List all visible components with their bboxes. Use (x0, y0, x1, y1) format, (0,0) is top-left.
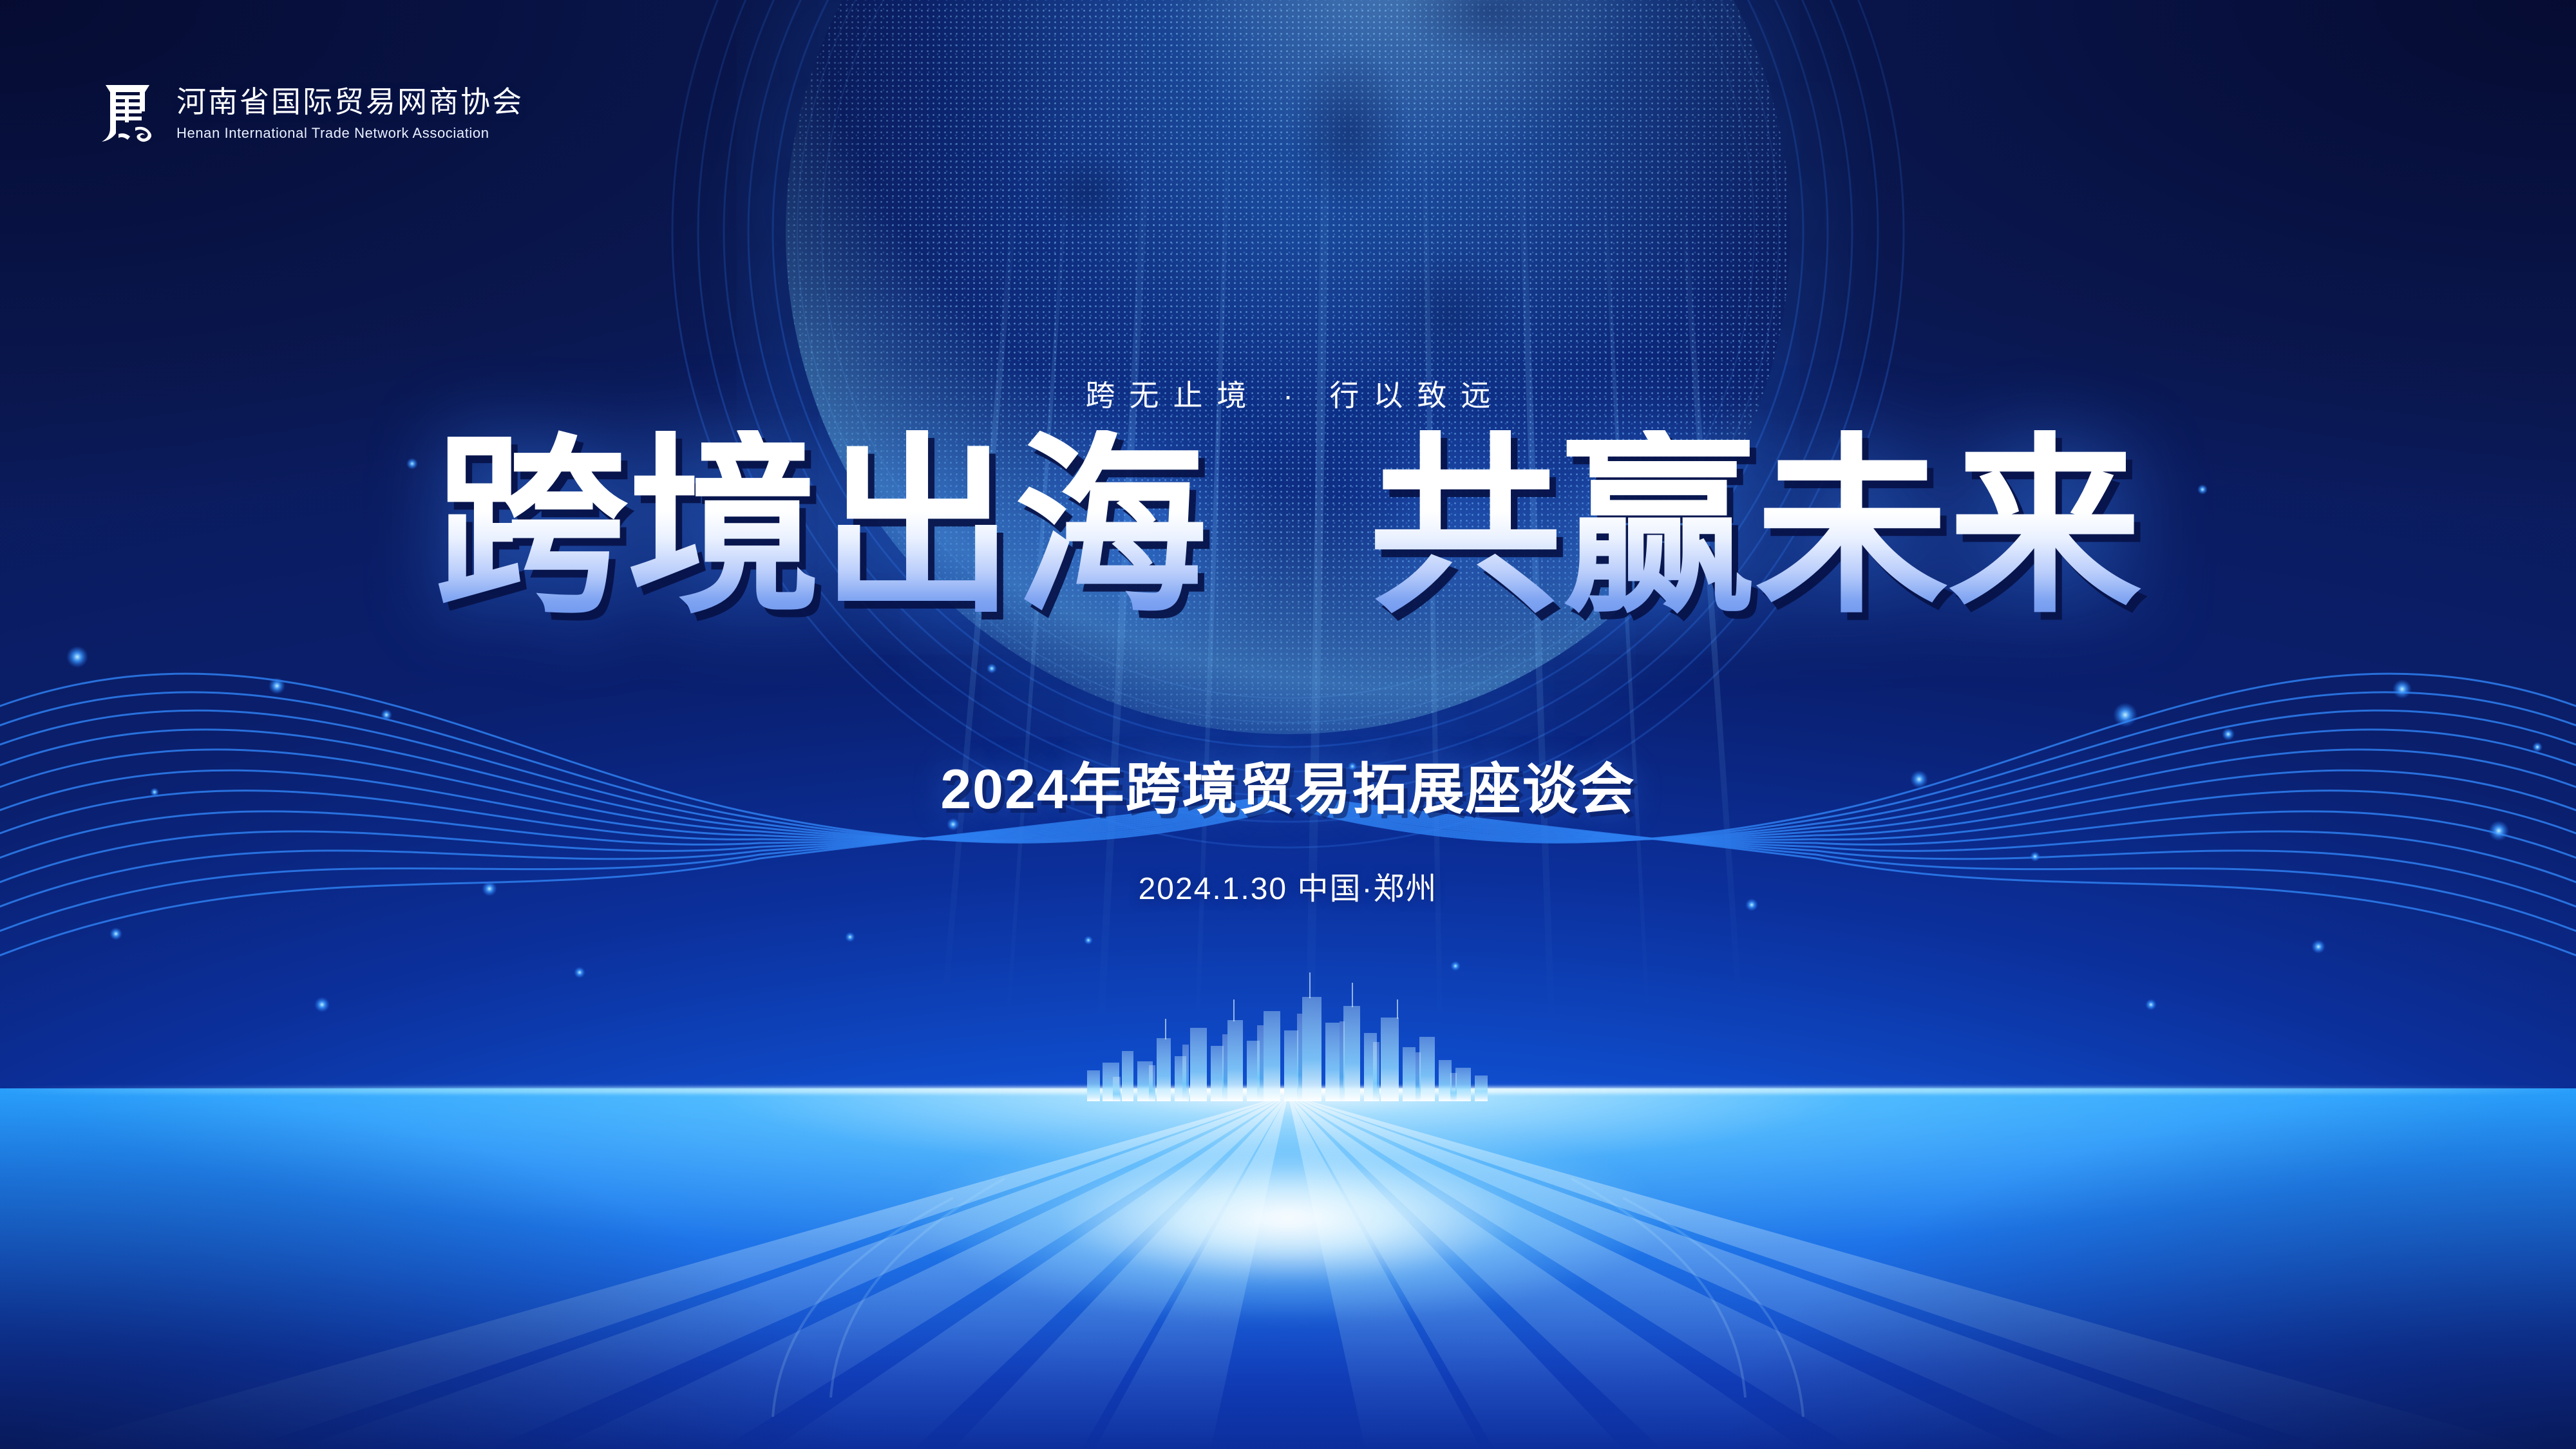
seal-emblem-icon (97, 76, 158, 144)
headline-part-2: 共赢未来 (1368, 430, 2141, 623)
association-logo: 河南省国际贸易网商协会 Henan International Trade Ne… (97, 76, 524, 144)
logo-name-cn: 河南省国际贸易网商协会 (176, 79, 524, 121)
event-subtitle: 2024年跨境贸易拓展座谈会 (0, 744, 2576, 824)
event-date-location: 2024.1.30 中国·郑州 (0, 863, 2576, 908)
city-skyline-icon (1075, 966, 1501, 1101)
event-banner: 河南省国际贸易网商协会 Henan International Trade Ne… (0, 0, 2576, 1449)
headline-part-1: 跨境出海 (435, 430, 1207, 623)
tagline: 跨无止境 · 行以致远 (0, 372, 2576, 415)
headline: 跨境出海 共赢未来 (0, 430, 2576, 623)
logo-name-en: Henan International Trade Network Associ… (176, 125, 524, 142)
